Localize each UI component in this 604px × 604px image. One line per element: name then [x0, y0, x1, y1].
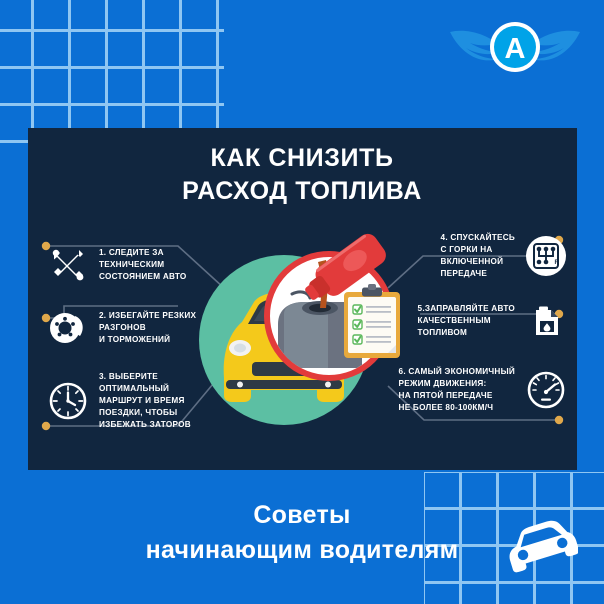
tip-item-2[interactable]: 2. ИЗБЕГАЙТЕ РЕЗКИХ РАЗГОНОВ И ТОРМОЖЕНИ… [46, 306, 196, 350]
tip-item-1[interactable]: 1. СЛЕДИТЕ ЗА ТЕХНИЧЕСКИМ СОСТОЯНИЕМ АВТ… [46, 243, 187, 287]
connector-dot [555, 416, 563, 424]
logo-letter: A [505, 33, 526, 65]
tip-item-1-text: 1. СЛЕДИТЕ ЗА ТЕХНИЧЕСКИМ СОСТОЯНИЕМ АВТ… [99, 247, 187, 283]
fuel-canister-icon [524, 299, 568, 343]
brake-disc-icon [46, 306, 90, 350]
tip-item-5[interactable]: 5.ЗАПРАВЛЯЙТЕ АВТО КАЧЕСТВЕННЫМ ТОПЛИВОМ [418, 299, 568, 343]
speedometer-icon [524, 368, 568, 412]
tip-item-6[interactable]: 6. САМЫЙ ЭКОНОМИЧНЫЙ РЕЖИМ ДВИЖЕНИЯ: НА … [399, 366, 568, 414]
wrench-screwdriver-icon [46, 243, 90, 287]
clipboard-checklist [344, 284, 400, 358]
gear-shifter-icon: R [524, 234, 568, 278]
svg-text:R: R [555, 260, 560, 266]
tip-item-3[interactable]: 3. ВЫБЕРИТЕ ОПТИМАЛЬНЫЙ МАРШРУТ И ВРЕМЯ … [46, 371, 191, 430]
car-oil-change-illustration [196, 228, 412, 436]
clock-icon [46, 379, 90, 423]
title-line-2: РАСХОД ТОПЛИВА [0, 175, 604, 208]
tilted-car-icon [500, 518, 578, 580]
tip-item-5-text: 5.ЗАПРАВЛЯЙТЕ АВТО КАЧЕСТВЕННЫМ ТОПЛИВОМ [418, 303, 515, 339]
tip-item-4[interactable]: R 4. СПУСКАЙТЕСЬ С ГОРКИ НА ВКЛЮЧЕННОЙ П… [441, 232, 568, 280]
infographic-canvas: A КАК СНИЗИТЬ РАСХОД [0, 0, 604, 604]
page-title: КАК СНИЗИТЬ РАСХОД ТОПЛИВА [0, 142, 604, 207]
footer-line-1: Советы [253, 501, 350, 529]
tip-item-3-text: 3. ВЫБЕРИТЕ ОПТИМАЛЬНЫЙ МАРШРУТ И ВРЕМЯ … [99, 371, 191, 430]
title-line-1: КАК СНИЗИТЬ [210, 144, 393, 172]
tip-item-2-text: 2. ИЗБЕГАЙТЕ РЕЗКИХ РАЗГОНОВ И ТОРМОЖЕНИ… [99, 310, 196, 346]
tip-item-4-text: 4. СПУСКАЙТЕСЬ С ГОРКИ НА ВКЛЮЧЕННОЙ ПЕР… [441, 232, 515, 280]
winged-a-logo: A [448, 16, 582, 78]
tip-item-6-text: 6. САМЫЙ ЭКОНОМИЧНЫЙ РЕЖИМ ДВИЖЕНИЯ: НА … [399, 366, 515, 414]
